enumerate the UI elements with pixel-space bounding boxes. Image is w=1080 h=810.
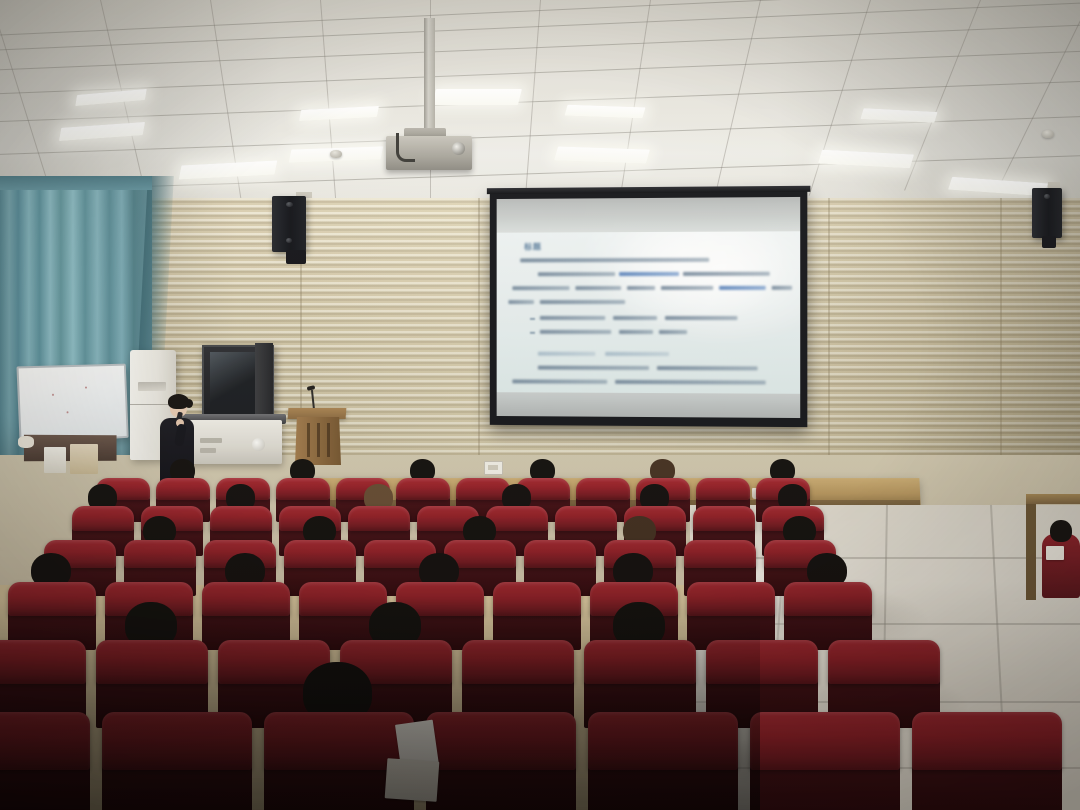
smoke-detector-right (1042, 130, 1054, 138)
auditorium-seat[interactable] (0, 712, 90, 770)
wall-outlet (484, 461, 503, 475)
slide-text-line (538, 272, 615, 276)
auditorium-seat[interactable] (687, 582, 775, 616)
auditorium-seat[interactable] (555, 506, 617, 531)
speaker-driver-icon (286, 202, 293, 207)
speaker-driver-icon (1044, 194, 1050, 199)
side-desk-leg (1026, 504, 1036, 600)
slide-text-line (719, 286, 765, 290)
slide-text-line (627, 286, 655, 290)
slide-title: 标题 (524, 241, 542, 252)
auditorium-photo: 标题 (0, 0, 1080, 810)
slide-text-line (772, 286, 792, 290)
slide-text-line (540, 330, 611, 334)
screen-unlit-bottom-band (497, 392, 801, 418)
side-desk (1026, 494, 1080, 504)
presenter-hair-bun (185, 399, 193, 408)
slide-text-line (619, 272, 679, 276)
auditorium-seat[interactable] (588, 712, 738, 770)
slide-text-line (619, 330, 653, 334)
curtain-rail (0, 176, 152, 190)
slide-bullet-dash (530, 318, 535, 320)
side-seat (1042, 534, 1080, 598)
plastic-bag (44, 447, 66, 473)
console-strip (200, 438, 222, 443)
speaker-mount-box (286, 250, 306, 264)
auditorium-seat[interactable] (396, 478, 450, 500)
slide-text-line (512, 379, 607, 383)
rack-side-speaker (255, 343, 273, 421)
auditorium-seat[interactable] (102, 712, 252, 770)
slide-text-line (538, 366, 649, 370)
projector-lens-icon (452, 142, 465, 155)
auditorium-seat[interactable] (584, 640, 696, 684)
auditorium-seat[interactable] (284, 540, 356, 568)
ceiling (0, 0, 1080, 205)
slide-text-line (540, 316, 605, 320)
auditorium-seat[interactable] (210, 506, 272, 531)
console-knob[interactable] (252, 438, 265, 451)
auditorium-seat[interactable] (96, 640, 208, 684)
auditorium-seat[interactable] (493, 582, 581, 616)
presentation-slide: 标题 (497, 231, 801, 394)
slide-text-line (575, 286, 621, 290)
auditorium-seat[interactable] (0, 640, 86, 684)
slide-text-line (659, 330, 687, 334)
slide-text-line (657, 366, 758, 370)
slide-text-line (615, 380, 766, 385)
slide-text-line (520, 258, 709, 263)
slide-text-line (508, 300, 534, 304)
whiteboard (16, 364, 128, 445)
auditorium-seat[interactable] (202, 582, 290, 616)
auditorium-seat[interactable] (696, 478, 750, 500)
ac-vent (138, 382, 166, 391)
slide-text-line (613, 316, 657, 320)
slide-text-line (665, 316, 737, 320)
speaker-driver-icon (286, 238, 292, 243)
auditorium-seat[interactable] (706, 640, 818, 684)
auditorium-seat[interactable] (784, 582, 872, 616)
side-desk-occupant (1050, 520, 1072, 542)
auditorium-seat[interactable] (348, 506, 410, 531)
auditorium-seat[interactable] (156, 478, 210, 500)
speaker-mount-box (1042, 236, 1056, 248)
projector-cable (396, 133, 415, 162)
paper-gift-bag (70, 444, 98, 474)
smoke-detector-left (330, 150, 342, 158)
slide-text-line (683, 272, 770, 276)
auditorium-seat[interactable] (828, 640, 940, 684)
wooden-lectern (295, 417, 341, 465)
projector-pole (424, 18, 435, 138)
auditorium-seat[interactable] (8, 582, 96, 616)
slide-text-line (538, 352, 595, 356)
slide-text-line (661, 286, 713, 290)
auditorium-seat[interactable] (426, 712, 576, 770)
slide-text-line (605, 352, 669, 356)
ceiling-light-6 (432, 89, 522, 105)
console-strip (200, 448, 216, 453)
screen-surface: 标题 (497, 197, 801, 418)
auditorium-seat[interactable] (576, 478, 630, 500)
auditorium-seat[interactable] (124, 540, 196, 568)
slide-text-line (540, 300, 625, 304)
auditorium-seat[interactable] (72, 506, 134, 531)
auditorium-seat[interactable] (684, 540, 756, 568)
auditorium-seat[interactable] (693, 506, 755, 531)
projection-screen: 标题 (490, 190, 808, 427)
auditorium-seat[interactable] (750, 712, 900, 770)
paper-sheet (1046, 546, 1064, 560)
slide-bullet-dash (530, 332, 535, 334)
tissue-box (18, 436, 34, 448)
slide-text-line (512, 286, 569, 290)
handout-paper (385, 758, 440, 802)
auditorium-seat[interactable] (912, 712, 1062, 770)
screen-unlit-top-band (497, 197, 801, 233)
auditorium-seat[interactable] (276, 478, 330, 500)
rack-glass-door (210, 352, 260, 416)
auditorium-seat[interactable] (524, 540, 596, 568)
auditorium-seat[interactable] (462, 640, 574, 684)
